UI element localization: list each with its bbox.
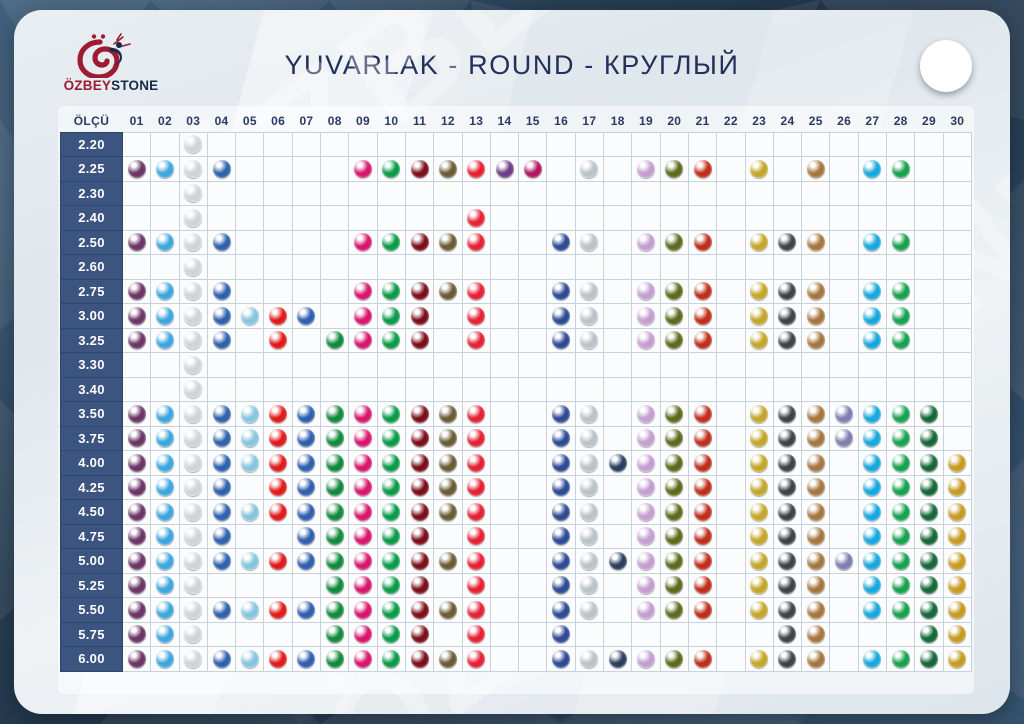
gem-cell-3.75-17[interactable] xyxy=(575,426,603,451)
empty-cell-5.25-22[interactable] xyxy=(717,573,745,598)
gem-cell-5.00-08[interactable] xyxy=(321,549,349,574)
empty-cell-2.75-06[interactable] xyxy=(264,279,292,304)
gem-cell-4.75-27[interactable] xyxy=(858,524,886,549)
gem-cell-5.00-11[interactable] xyxy=(405,549,433,574)
gem-cell-3.75-13[interactable] xyxy=(462,426,490,451)
gem-cell-2.75-04[interactable] xyxy=(207,279,235,304)
empty-cell-3.40-16[interactable] xyxy=(547,377,575,402)
gem-cell-5.25-30[interactable] xyxy=(943,573,971,598)
gem-cell-5.00-02[interactable] xyxy=(151,549,179,574)
gem-cell-3.00-27[interactable] xyxy=(858,304,886,329)
gem-cell-4.50-25[interactable] xyxy=(802,500,830,525)
gem-cell-3.25-27[interactable] xyxy=(858,328,886,353)
empty-cell-3.40-30[interactable] xyxy=(943,377,971,402)
gem-cell-3.50-05[interactable] xyxy=(236,402,264,427)
empty-cell-2.30-05[interactable] xyxy=(236,181,264,206)
empty-cell-3.00-29[interactable] xyxy=(915,304,943,329)
empty-cell-3.30-19[interactable] xyxy=(632,353,660,378)
empty-cell-3.30-29[interactable] xyxy=(915,353,943,378)
gem-cell-4.75-21[interactable] xyxy=(688,524,716,549)
gem-cell-5.50-06[interactable] xyxy=(264,598,292,623)
gem-cell-2.50-01[interactable] xyxy=(123,230,151,255)
gem-cell-5.00-05[interactable] xyxy=(236,549,264,574)
gem-cell-5.50-20[interactable] xyxy=(660,598,688,623)
gem-cell-3.75-06[interactable] xyxy=(264,426,292,451)
empty-cell-2.40-29[interactable] xyxy=(915,206,943,231)
empty-cell-2.30-12[interactable] xyxy=(434,181,462,206)
empty-cell-2.30-20[interactable] xyxy=(660,181,688,206)
gem-cell-5.25-25[interactable] xyxy=(802,573,830,598)
empty-cell-2.40-10[interactable] xyxy=(377,206,405,231)
empty-cell-2.40-30[interactable] xyxy=(943,206,971,231)
empty-cell-3.25-18[interactable] xyxy=(604,328,632,353)
empty-cell-3.30-13[interactable] xyxy=(462,353,490,378)
gem-cell-4.25-13[interactable] xyxy=(462,475,490,500)
gem-cell-4.75-02[interactable] xyxy=(151,524,179,549)
gem-cell-2.50-28[interactable] xyxy=(887,230,915,255)
gem-cell-3.50-02[interactable] xyxy=(151,402,179,427)
gem-cell-2.75-19[interactable] xyxy=(632,279,660,304)
gem-cell-2.75-20[interactable] xyxy=(660,279,688,304)
gem-cell-5.50-08[interactable] xyxy=(321,598,349,623)
empty-cell-2.25-07[interactable] xyxy=(292,157,320,182)
gem-cell-3.25-17[interactable] xyxy=(575,328,603,353)
empty-cell-5.50-26[interactable] xyxy=(830,598,858,623)
empty-cell-4.50-22[interactable] xyxy=(717,500,745,525)
empty-cell-2.40-15[interactable] xyxy=(519,206,547,231)
empty-cell-2.25-24[interactable] xyxy=(773,157,801,182)
empty-cell-2.60-13[interactable] xyxy=(462,255,490,280)
gem-cell-5.75-03[interactable] xyxy=(179,622,207,647)
gem-cell-3.75-16[interactable] xyxy=(547,426,575,451)
gem-cell-3.00-10[interactable] xyxy=(377,304,405,329)
empty-cell-3.40-25[interactable] xyxy=(802,377,830,402)
empty-cell-3.30-02[interactable] xyxy=(151,353,179,378)
empty-cell-2.40-01[interactable] xyxy=(123,206,151,231)
gem-cell-4.50-24[interactable] xyxy=(773,500,801,525)
empty-cell-2.40-25[interactable] xyxy=(802,206,830,231)
empty-cell-2.20-17[interactable] xyxy=(575,132,603,157)
empty-cell-5.75-12[interactable] xyxy=(434,622,462,647)
empty-cell-2.30-18[interactable] xyxy=(604,181,632,206)
empty-cell-5.25-18[interactable] xyxy=(604,573,632,598)
gem-cell-5.25-16[interactable] xyxy=(547,573,575,598)
gem-cell-5.00-07[interactable] xyxy=(292,549,320,574)
gem-cell-4.00-18[interactable] xyxy=(604,451,632,476)
empty-cell-5.25-07[interactable] xyxy=(292,573,320,598)
empty-cell-5.75-04[interactable] xyxy=(207,622,235,647)
gem-cell-2.40-13[interactable] xyxy=(462,206,490,231)
gem-cell-4.75-29[interactable] xyxy=(915,524,943,549)
gem-cell-2.75-27[interactable] xyxy=(858,279,886,304)
empty-cell-5.50-18[interactable] xyxy=(604,598,632,623)
empty-cell-2.30-11[interactable] xyxy=(405,181,433,206)
gem-cell-5.50-19[interactable] xyxy=(632,598,660,623)
empty-cell-2.40-27[interactable] xyxy=(858,206,886,231)
gem-cell-3.00-25[interactable] xyxy=(802,304,830,329)
gem-cell-4.00-02[interactable] xyxy=(151,451,179,476)
gem-cell-3.25-08[interactable] xyxy=(321,328,349,353)
empty-cell-3.30-22[interactable] xyxy=(717,353,745,378)
empty-cell-3.30-06[interactable] xyxy=(264,353,292,378)
gem-cell-3.50-04[interactable] xyxy=(207,402,235,427)
gem-cell-4.50-16[interactable] xyxy=(547,500,575,525)
empty-cell-2.40-05[interactable] xyxy=(236,206,264,231)
empty-cell-2.60-17[interactable] xyxy=(575,255,603,280)
empty-cell-2.20-25[interactable] xyxy=(802,132,830,157)
gem-cell-6.00-29[interactable] xyxy=(915,647,943,672)
empty-cell-2.30-23[interactable] xyxy=(745,181,773,206)
empty-cell-2.40-21[interactable] xyxy=(688,206,716,231)
gem-cell-2.50-09[interactable] xyxy=(349,230,377,255)
empty-cell-2.60-23[interactable] xyxy=(745,255,773,280)
gem-cell-4.25-21[interactable] xyxy=(688,475,716,500)
empty-cell-2.20-09[interactable] xyxy=(349,132,377,157)
gem-cell-4.00-10[interactable] xyxy=(377,451,405,476)
gem-cell-3.75-29[interactable] xyxy=(915,426,943,451)
gem-cell-3.75-10[interactable] xyxy=(377,426,405,451)
empty-cell-5.75-21[interactable] xyxy=(688,622,716,647)
gem-cell-5.00-01[interactable] xyxy=(123,549,151,574)
gem-cell-5.00-12[interactable] xyxy=(434,549,462,574)
empty-cell-5.75-27[interactable] xyxy=(858,622,886,647)
gem-cell-6.00-10[interactable] xyxy=(377,647,405,672)
empty-cell-2.20-18[interactable] xyxy=(604,132,632,157)
gem-cell-2.50-10[interactable] xyxy=(377,230,405,255)
gem-cell-5.50-28[interactable] xyxy=(887,598,915,623)
gem-cell-4.00-30[interactable] xyxy=(943,451,971,476)
gem-cell-4.75-03[interactable] xyxy=(179,524,207,549)
gem-cell-3.75-28[interactable] xyxy=(887,426,915,451)
empty-cell-3.30-28[interactable] xyxy=(887,353,915,378)
empty-cell-2.60-11[interactable] xyxy=(405,255,433,280)
empty-cell-2.40-04[interactable] xyxy=(207,206,235,231)
gem-cell-5.25-29[interactable] xyxy=(915,573,943,598)
gem-cell-3.50-23[interactable] xyxy=(745,402,773,427)
empty-cell-4.75-22[interactable] xyxy=(717,524,745,549)
empty-cell-3.40-08[interactable] xyxy=(321,377,349,402)
empty-cell-2.20-30[interactable] xyxy=(943,132,971,157)
empty-cell-2.50-05[interactable] xyxy=(236,230,264,255)
empty-cell-5.75-15[interactable] xyxy=(519,622,547,647)
gem-cell-2.75-24[interactable] xyxy=(773,279,801,304)
empty-cell-4.00-22[interactable] xyxy=(717,451,745,476)
empty-cell-5.25-26[interactable] xyxy=(830,573,858,598)
gem-cell-6.00-09[interactable] xyxy=(349,647,377,672)
empty-cell-2.60-25[interactable] xyxy=(802,255,830,280)
empty-cell-5.00-14[interactable] xyxy=(490,549,518,574)
gem-cell-3.50-19[interactable] xyxy=(632,402,660,427)
gem-cell-2.25-17[interactable] xyxy=(575,157,603,182)
gem-cell-3.50-24[interactable] xyxy=(773,402,801,427)
empty-cell-2.25-29[interactable] xyxy=(915,157,943,182)
empty-cell-2.60-19[interactable] xyxy=(632,255,660,280)
empty-cell-2.75-05[interactable] xyxy=(236,279,264,304)
gem-cell-3.75-23[interactable] xyxy=(745,426,773,451)
empty-cell-2.30-15[interactable] xyxy=(519,181,547,206)
empty-cell-3.30-26[interactable] xyxy=(830,353,858,378)
empty-cell-2.50-08[interactable] xyxy=(321,230,349,255)
empty-cell-6.00-22[interactable] xyxy=(717,647,745,672)
gem-cell-4.00-06[interactable] xyxy=(264,451,292,476)
gem-cell-4.75-20[interactable] xyxy=(660,524,688,549)
gem-cell-3.75-26[interactable] xyxy=(830,426,858,451)
empty-cell-2.25-16[interactable] xyxy=(547,157,575,182)
empty-cell-3.30-09[interactable] xyxy=(349,353,377,378)
empty-cell-2.60-01[interactable] xyxy=(123,255,151,280)
empty-cell-3.30-04[interactable] xyxy=(207,353,235,378)
gem-cell-5.25-10[interactable] xyxy=(377,573,405,598)
gem-cell-3.00-07[interactable] xyxy=(292,304,320,329)
empty-cell-3.30-10[interactable] xyxy=(377,353,405,378)
gem-cell-5.50-03[interactable] xyxy=(179,598,207,623)
gem-cell-3.30-03[interactable] xyxy=(179,353,207,378)
empty-cell-2.40-14[interactable] xyxy=(490,206,518,231)
gem-cell-3.50-12[interactable] xyxy=(434,402,462,427)
gem-cell-6.00-13[interactable] xyxy=(462,647,490,672)
gem-cell-4.25-10[interactable] xyxy=(377,475,405,500)
empty-cell-3.75-15[interactable] xyxy=(519,426,547,451)
gem-cell-3.50-08[interactable] xyxy=(321,402,349,427)
empty-cell-2.60-18[interactable] xyxy=(604,255,632,280)
gem-cell-5.25-20[interactable] xyxy=(660,573,688,598)
empty-cell-3.75-30[interactable] xyxy=(943,426,971,451)
gem-cell-3.25-20[interactable] xyxy=(660,328,688,353)
gem-cell-3.00-28[interactable] xyxy=(887,304,915,329)
gem-cell-2.25-15[interactable] xyxy=(519,157,547,182)
gem-cell-4.25-11[interactable] xyxy=(405,475,433,500)
gem-cell-5.50-24[interactable] xyxy=(773,598,801,623)
gem-cell-2.25-11[interactable] xyxy=(405,157,433,182)
empty-cell-2.20-12[interactable] xyxy=(434,132,462,157)
gem-cell-6.00-21[interactable] xyxy=(688,647,716,672)
empty-cell-3.75-22[interactable] xyxy=(717,426,745,451)
empty-cell-3.40-28[interactable] xyxy=(887,377,915,402)
gem-cell-3.50-17[interactable] xyxy=(575,402,603,427)
empty-cell-2.30-16[interactable] xyxy=(547,181,575,206)
gem-cell-3.25-25[interactable] xyxy=(802,328,830,353)
empty-cell-2.40-24[interactable] xyxy=(773,206,801,231)
gem-cell-6.00-03[interactable] xyxy=(179,647,207,672)
empty-cell-2.20-29[interactable] xyxy=(915,132,943,157)
gem-cell-2.20-03[interactable] xyxy=(179,132,207,157)
gem-cell-2.50-11[interactable] xyxy=(405,230,433,255)
gem-cell-6.00-06[interactable] xyxy=(264,647,292,672)
gem-cell-2.50-03[interactable] xyxy=(179,230,207,255)
gem-cell-5.75-29[interactable] xyxy=(915,622,943,647)
gem-cell-2.50-25[interactable] xyxy=(802,230,830,255)
empty-cell-2.60-21[interactable] xyxy=(688,255,716,280)
gem-cell-3.00-04[interactable] xyxy=(207,304,235,329)
gem-cell-5.00-13[interactable] xyxy=(462,549,490,574)
gem-cell-4.75-08[interactable] xyxy=(321,524,349,549)
empty-cell-2.30-21[interactable] xyxy=(688,181,716,206)
gem-cell-4.25-20[interactable] xyxy=(660,475,688,500)
empty-cell-4.75-15[interactable] xyxy=(519,524,547,549)
gem-cell-4.50-29[interactable] xyxy=(915,500,943,525)
empty-cell-2.75-08[interactable] xyxy=(321,279,349,304)
empty-cell-2.60-09[interactable] xyxy=(349,255,377,280)
empty-cell-5.75-06[interactable] xyxy=(264,622,292,647)
gem-cell-4.00-09[interactable] xyxy=(349,451,377,476)
empty-cell-2.30-24[interactable] xyxy=(773,181,801,206)
gem-cell-6.00-19[interactable] xyxy=(632,647,660,672)
gem-cell-4.75-17[interactable] xyxy=(575,524,603,549)
gem-cell-3.50-09[interactable] xyxy=(349,402,377,427)
empty-cell-2.20-26[interactable] xyxy=(830,132,858,157)
gem-cell-3.75-20[interactable] xyxy=(660,426,688,451)
empty-cell-3.30-07[interactable] xyxy=(292,353,320,378)
gem-cell-2.25-10[interactable] xyxy=(377,157,405,182)
empty-cell-3.00-14[interactable] xyxy=(490,304,518,329)
gem-cell-4.75-13[interactable] xyxy=(462,524,490,549)
empty-cell-2.20-13[interactable] xyxy=(462,132,490,157)
empty-cell-2.20-22[interactable] xyxy=(717,132,745,157)
gem-cell-2.75-01[interactable] xyxy=(123,279,151,304)
empty-cell-3.40-22[interactable] xyxy=(717,377,745,402)
empty-cell-3.40-20[interactable] xyxy=(660,377,688,402)
empty-cell-3.30-15[interactable] xyxy=(519,353,547,378)
gem-cell-4.50-04[interactable] xyxy=(207,500,235,525)
empty-cell-2.25-05[interactable] xyxy=(236,157,264,182)
empty-cell-3.00-08[interactable] xyxy=(321,304,349,329)
gem-cell-2.60-03[interactable] xyxy=(179,255,207,280)
empty-cell-4.50-26[interactable] xyxy=(830,500,858,525)
empty-cell-5.75-05[interactable] xyxy=(236,622,264,647)
empty-cell-4.75-26[interactable] xyxy=(830,524,858,549)
empty-cell-2.20-10[interactable] xyxy=(377,132,405,157)
gem-cell-5.00-09[interactable] xyxy=(349,549,377,574)
gem-cell-6.00-16[interactable] xyxy=(547,647,575,672)
gem-cell-5.00-29[interactable] xyxy=(915,549,943,574)
gem-cell-3.50-10[interactable] xyxy=(377,402,405,427)
empty-cell-2.30-14[interactable] xyxy=(490,181,518,206)
gem-cell-2.50-04[interactable] xyxy=(207,230,235,255)
gem-cell-2.50-23[interactable] xyxy=(745,230,773,255)
gem-cell-4.00-04[interactable] xyxy=(207,451,235,476)
empty-cell-2.20-24[interactable] xyxy=(773,132,801,157)
empty-cell-2.60-14[interactable] xyxy=(490,255,518,280)
gem-cell-4.25-19[interactable] xyxy=(632,475,660,500)
gem-cell-4.75-25[interactable] xyxy=(802,524,830,549)
empty-cell-3.40-18[interactable] xyxy=(604,377,632,402)
gem-cell-2.75-28[interactable] xyxy=(887,279,915,304)
empty-cell-2.40-12[interactable] xyxy=(434,206,462,231)
empty-cell-3.30-30[interactable] xyxy=(943,353,971,378)
gem-cell-5.50-25[interactable] xyxy=(802,598,830,623)
empty-cell-2.60-04[interactable] xyxy=(207,255,235,280)
empty-cell-4.00-15[interactable] xyxy=(519,451,547,476)
empty-cell-2.60-10[interactable] xyxy=(377,255,405,280)
empty-cell-2.40-26[interactable] xyxy=(830,206,858,231)
gem-cell-3.25-02[interactable] xyxy=(151,328,179,353)
empty-cell-3.25-05[interactable] xyxy=(236,328,264,353)
gem-cell-2.30-03[interactable] xyxy=(179,181,207,206)
gem-cell-6.00-30[interactable] xyxy=(943,647,971,672)
gem-cell-3.00-03[interactable] xyxy=(179,304,207,329)
gem-cell-5.25-08[interactable] xyxy=(321,573,349,598)
empty-cell-2.60-06[interactable] xyxy=(264,255,292,280)
gem-cell-4.25-07[interactable] xyxy=(292,475,320,500)
empty-cell-4.75-14[interactable] xyxy=(490,524,518,549)
gem-cell-4.00-28[interactable] xyxy=(887,451,915,476)
gem-cell-4.00-21[interactable] xyxy=(688,451,716,476)
empty-cell-2.20-27[interactable] xyxy=(858,132,886,157)
gem-cell-4.25-12[interactable] xyxy=(434,475,462,500)
gem-cell-4.50-12[interactable] xyxy=(434,500,462,525)
empty-cell-2.20-07[interactable] xyxy=(292,132,320,157)
empty-cell-3.25-14[interactable] xyxy=(490,328,518,353)
gem-cell-4.50-21[interactable] xyxy=(688,500,716,525)
gem-cell-3.50-06[interactable] xyxy=(264,402,292,427)
empty-cell-3.30-05[interactable] xyxy=(236,353,264,378)
empty-cell-2.60-08[interactable] xyxy=(321,255,349,280)
empty-cell-3.40-13[interactable] xyxy=(462,377,490,402)
empty-cell-5.25-14[interactable] xyxy=(490,573,518,598)
gem-cell-2.75-13[interactable] xyxy=(462,279,490,304)
empty-cell-4.50-15[interactable] xyxy=(519,500,547,525)
empty-cell-6.00-26[interactable] xyxy=(830,647,858,672)
gem-cell-4.00-12[interactable] xyxy=(434,451,462,476)
gem-cell-6.00-18[interactable] xyxy=(604,647,632,672)
gem-cell-2.25-09[interactable] xyxy=(349,157,377,182)
empty-cell-3.00-18[interactable] xyxy=(604,304,632,329)
gem-cell-5.50-16[interactable] xyxy=(547,598,575,623)
empty-cell-3.00-26[interactable] xyxy=(830,304,858,329)
empty-cell-2.30-19[interactable] xyxy=(632,181,660,206)
gem-cell-3.25-06[interactable] xyxy=(264,328,292,353)
empty-cell-3.30-17[interactable] xyxy=(575,353,603,378)
gem-cell-5.25-11[interactable] xyxy=(405,573,433,598)
gem-cell-4.25-01[interactable] xyxy=(123,475,151,500)
empty-cell-3.50-15[interactable] xyxy=(519,402,547,427)
gem-cell-5.75-11[interactable] xyxy=(405,622,433,647)
gem-cell-3.50-27[interactable] xyxy=(858,402,886,427)
empty-cell-3.40-23[interactable] xyxy=(745,377,773,402)
gem-cell-6.00-04[interactable] xyxy=(207,647,235,672)
gem-cell-2.75-11[interactable] xyxy=(405,279,433,304)
gem-cell-5.00-17[interactable] xyxy=(575,549,603,574)
empty-cell-2.25-06[interactable] xyxy=(264,157,292,182)
gem-cell-4.75-01[interactable] xyxy=(123,524,151,549)
gem-cell-3.00-06[interactable] xyxy=(264,304,292,329)
gem-cell-2.50-19[interactable] xyxy=(632,230,660,255)
gem-cell-3.50-01[interactable] xyxy=(123,402,151,427)
gem-cell-2.25-25[interactable] xyxy=(802,157,830,182)
empty-cell-2.20-01[interactable] xyxy=(123,132,151,157)
gem-cell-5.50-11[interactable] xyxy=(405,598,433,623)
empty-cell-5.75-26[interactable] xyxy=(830,622,858,647)
empty-cell-4.75-18[interactable] xyxy=(604,524,632,549)
gem-cell-4.75-10[interactable] xyxy=(377,524,405,549)
gem-cell-2.50-16[interactable] xyxy=(547,230,575,255)
empty-cell-3.40-01[interactable] xyxy=(123,377,151,402)
gem-cell-4.50-07[interactable] xyxy=(292,500,320,525)
empty-cell-2.60-20[interactable] xyxy=(660,255,688,280)
empty-cell-3.75-14[interactable] xyxy=(490,426,518,451)
gem-cell-4.25-29[interactable] xyxy=(915,475,943,500)
empty-cell-5.00-15[interactable] xyxy=(519,549,547,574)
empty-cell-6.00-14[interactable] xyxy=(490,647,518,672)
gem-cell-5.25-23[interactable] xyxy=(745,573,773,598)
gem-cell-4.50-06[interactable] xyxy=(264,500,292,525)
empty-cell-5.75-23[interactable] xyxy=(745,622,773,647)
empty-cell-3.40-07[interactable] xyxy=(292,377,320,402)
gem-cell-2.25-23[interactable] xyxy=(745,157,773,182)
gem-cell-3.50-11[interactable] xyxy=(405,402,433,427)
gem-cell-3.00-02[interactable] xyxy=(151,304,179,329)
gem-cell-2.25-28[interactable] xyxy=(887,157,915,182)
